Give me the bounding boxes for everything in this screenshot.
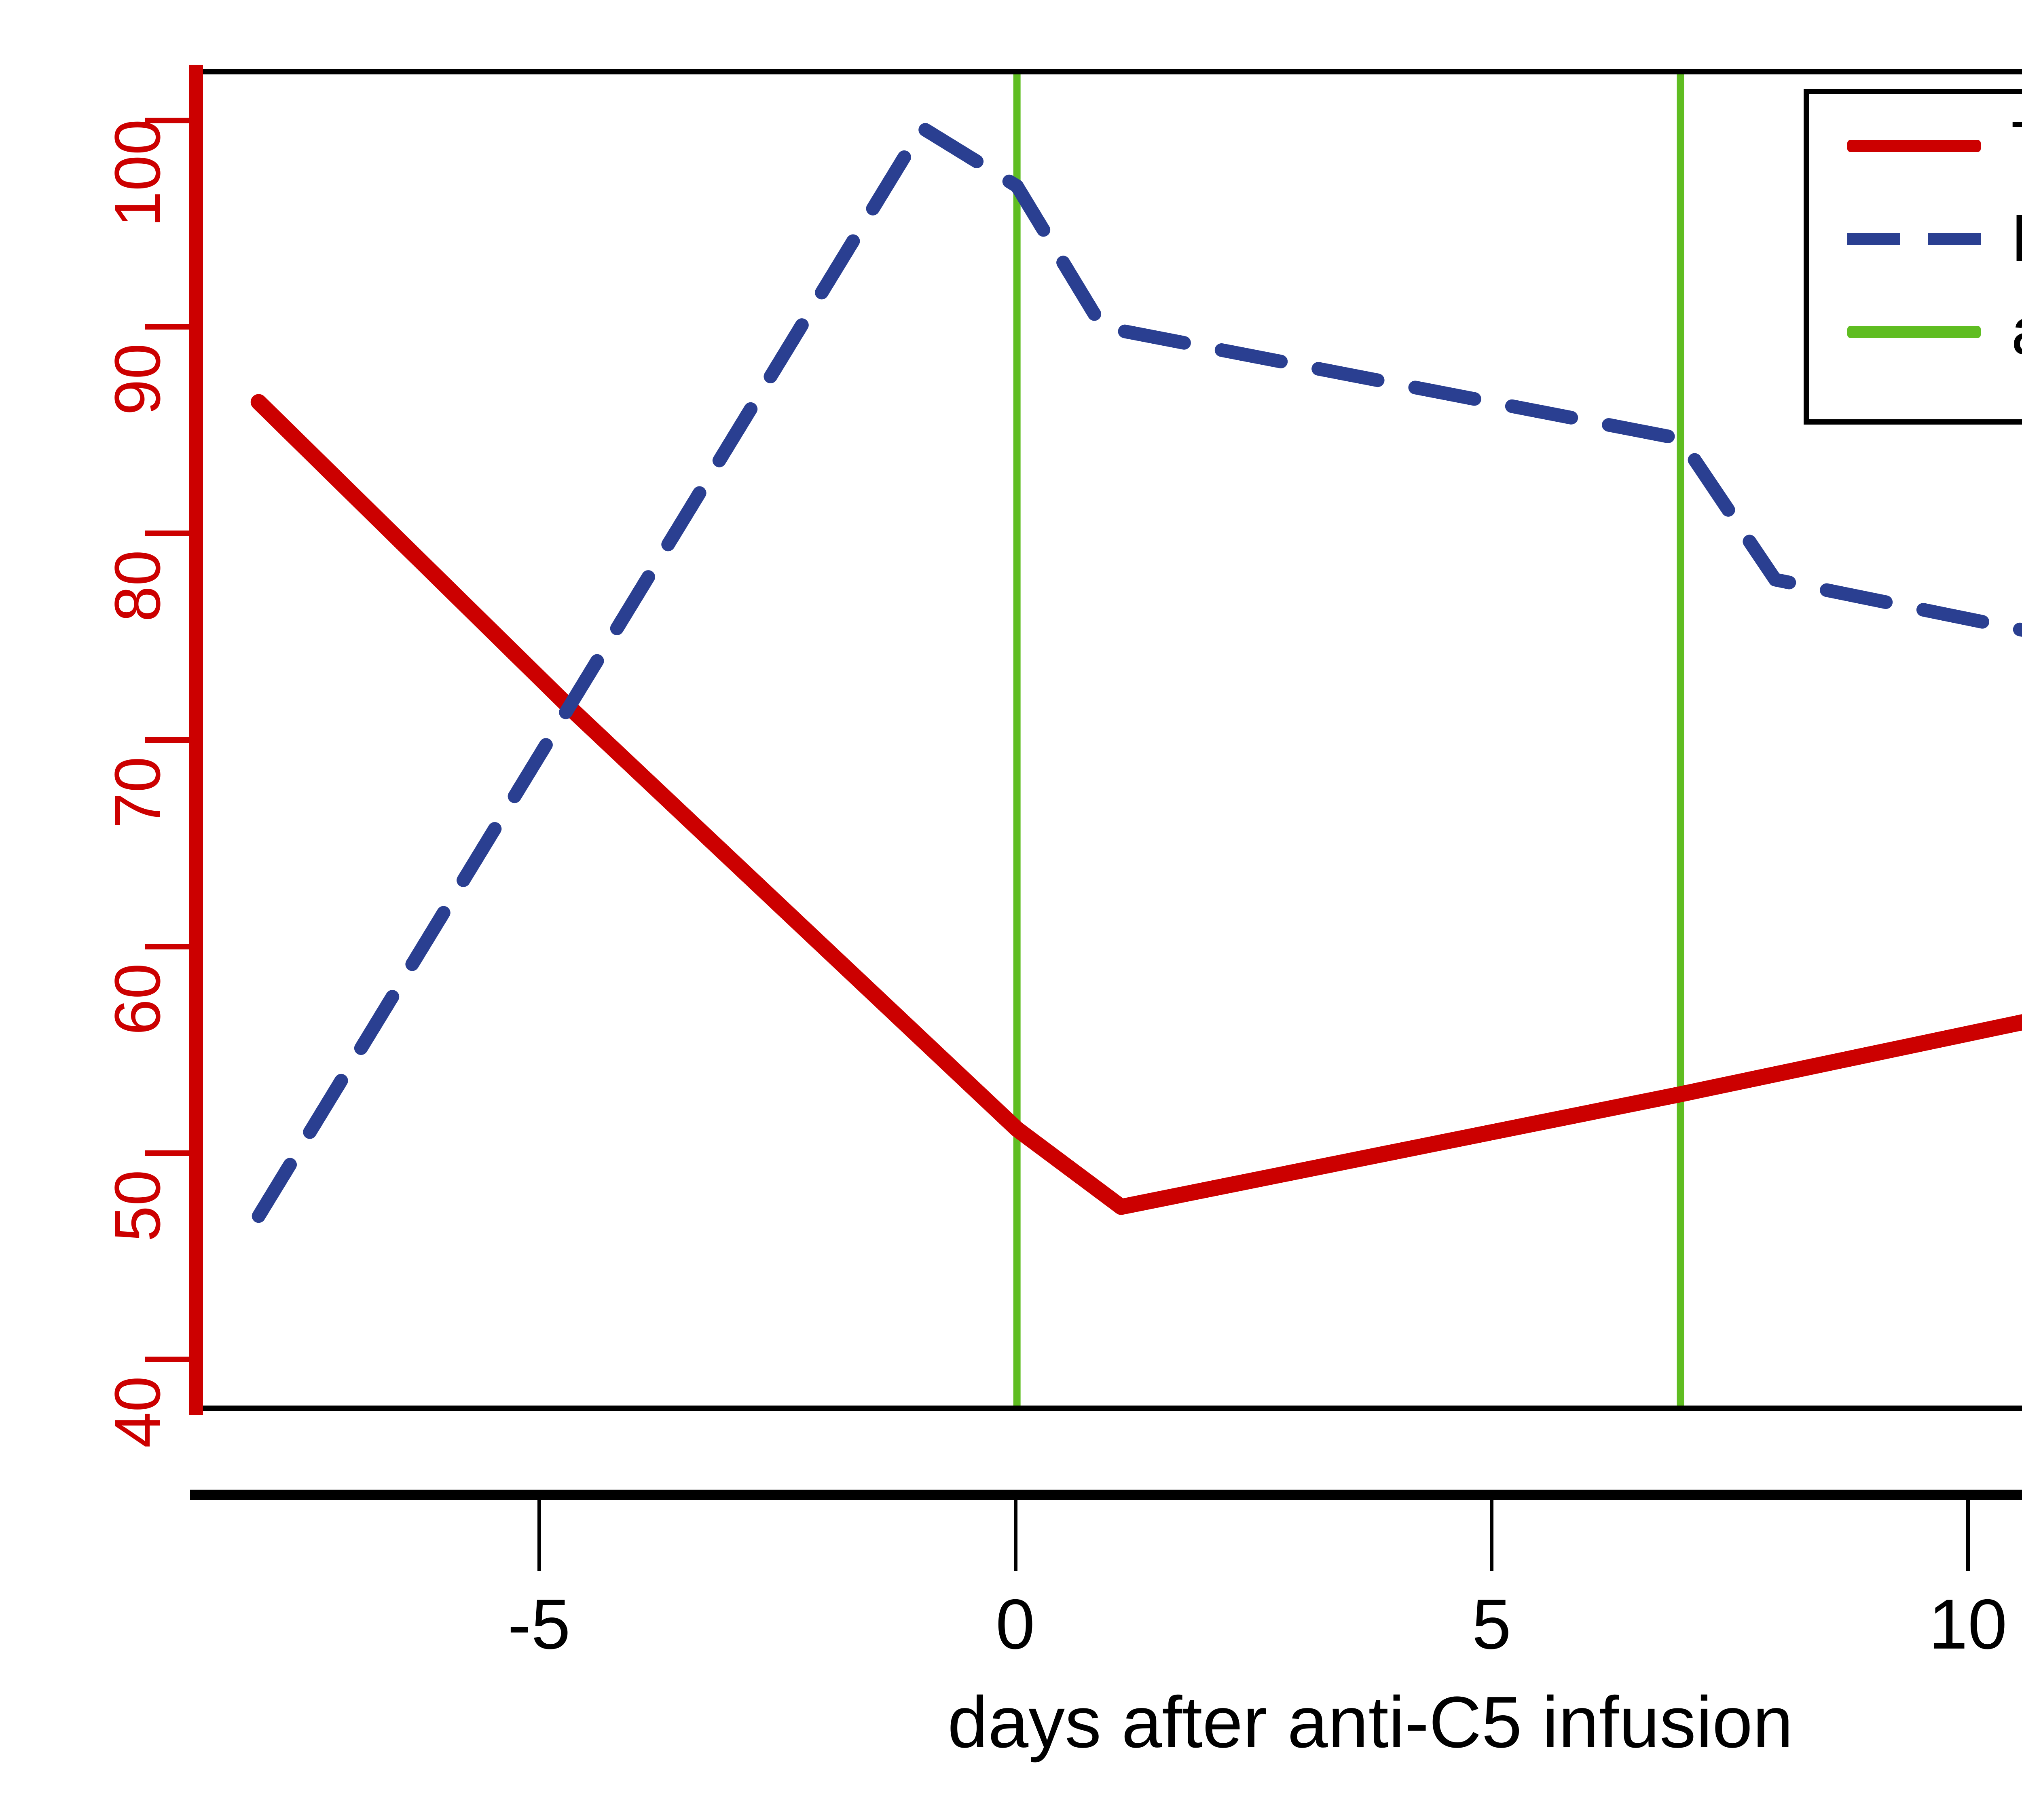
left-tick-label: 80 xyxy=(105,529,170,643)
left-tick-label: 70 xyxy=(105,736,170,849)
legend-item-ldh[interactable]: LDH (UI/L) xyxy=(1809,197,2022,282)
bottom-tick-label: -5 xyxy=(438,1589,640,1660)
left-tick-label: 90 xyxy=(105,323,170,436)
bottom-tick-mark xyxy=(537,1500,541,1571)
bottom-tick-label: 10 xyxy=(1867,1589,2022,1660)
legend-box: Total Hb (g/L) LDH (UI/L) anti-C5 infusi… xyxy=(1804,89,2022,425)
legend-key-solid-line-icon xyxy=(1847,326,1981,338)
legend-label: anti-C5 infusion xyxy=(2011,298,2022,364)
legend-key-solid-line-icon xyxy=(1847,140,1981,152)
legend-key-dashed-line-icon xyxy=(1847,233,1981,245)
bottom-tick-mark xyxy=(1490,1500,1493,1571)
bottom-axis-spine xyxy=(190,1490,2022,1500)
bottom-tick-mark xyxy=(1966,1500,1970,1571)
legend-item-total-hb[interactable]: Total Hb (g/L) xyxy=(1809,104,2022,189)
left-tick-label: 100 xyxy=(105,116,170,230)
x-axis-title: days after anti-C5 infusion xyxy=(0,1686,2022,1759)
bottom-tick-label: 0 xyxy=(914,1589,1117,1660)
left-tick-label: 40 xyxy=(105,1355,170,1469)
left-tick-label: 60 xyxy=(105,943,170,1056)
series-group xyxy=(259,128,2022,1216)
bottom-tick-label: 5 xyxy=(1390,1589,1593,1660)
series-line-total-hb xyxy=(259,402,2022,1207)
bottom-tick-mark xyxy=(1014,1500,1017,1571)
chart-figure: 100908070605040 25002000150010005000 -50… xyxy=(0,0,2022,1820)
plot-canvas xyxy=(202,74,2022,1406)
plot-area xyxy=(196,69,2022,1411)
left-axis-spine xyxy=(189,65,203,1415)
legend-label: LDH (UI/L) xyxy=(2011,205,2022,271)
left-tick-label: 50 xyxy=(105,1149,170,1262)
legend-label: Total Hb (g/L) xyxy=(2011,112,2022,178)
legend-item-anti-c5[interactable]: anti-C5 infusion xyxy=(1809,290,2022,375)
